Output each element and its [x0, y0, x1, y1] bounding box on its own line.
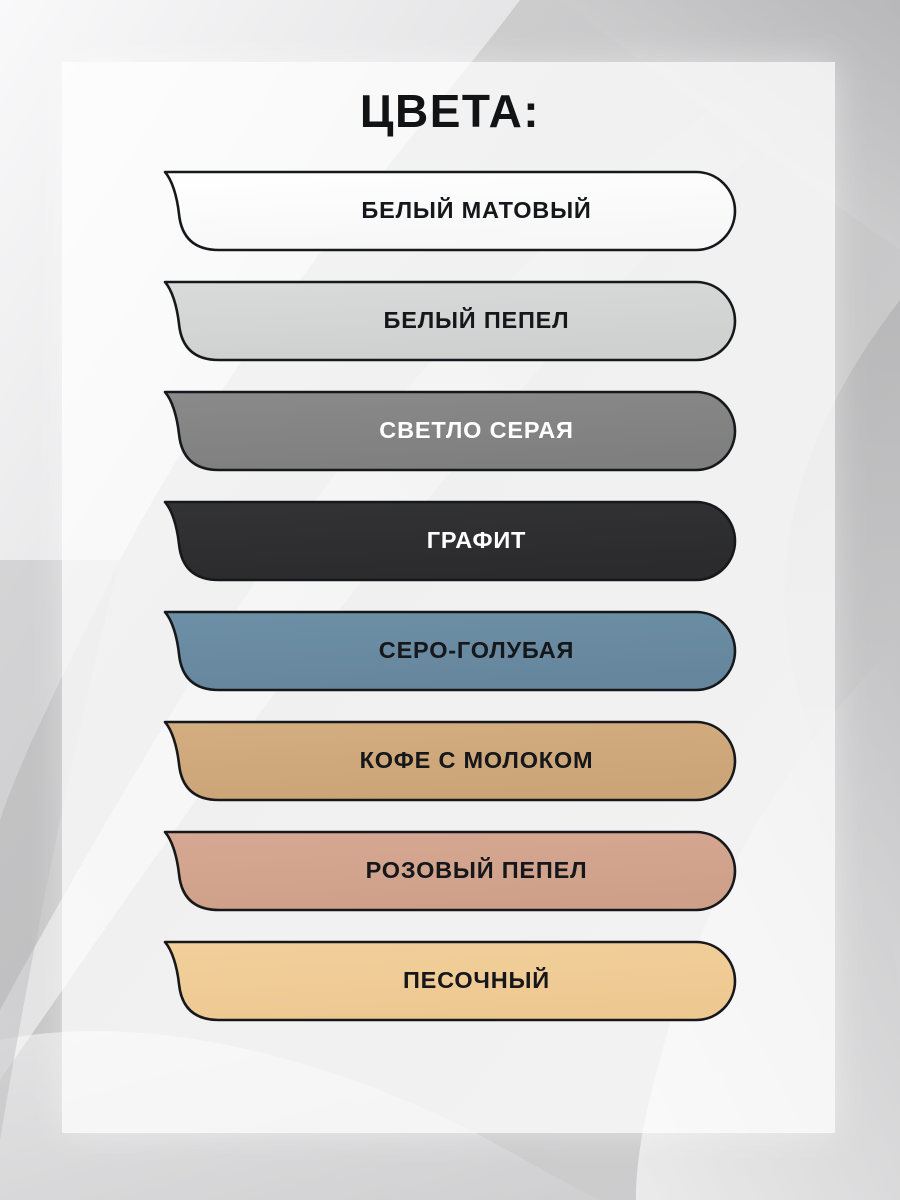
color-swatch-option[interactable]: БЕЛЫЙ МАТОВЫЙ — [163, 170, 738, 252]
color-swatch-label: БЕЛЫЙ МАТОВЫЙ — [215, 170, 738, 252]
color-swatch-option[interactable]: РОЗОВЫЙ ПЕПЕЛ — [163, 830, 738, 912]
page-title: ЦВЕТА: — [0, 88, 900, 134]
color-swatch-option[interactable]: ПЕСОЧНЫЙ — [163, 940, 738, 1022]
color-swatch-option[interactable]: КОФЕ С МОЛОКОМ — [163, 720, 738, 802]
color-swatch-list: БЕЛЫЙ МАТОВЫЙБЕЛЫЙ ПЕПЕЛСВЕТЛО СЕРАЯГРАФ… — [163, 170, 738, 1050]
color-swatch-option[interactable]: СЕРО-ГОЛУБАЯ — [163, 610, 738, 692]
color-swatch-label: БЕЛЫЙ ПЕПЕЛ — [215, 280, 738, 362]
color-swatch-option[interactable]: СВЕТЛО СЕРАЯ — [163, 390, 738, 472]
color-swatch-label: СВЕТЛО СЕРАЯ — [215, 390, 738, 472]
color-swatch-label: ПЕСОЧНЫЙ — [215, 940, 738, 1022]
color-swatch-option[interactable]: ГРАФИТ — [163, 500, 738, 582]
color-swatch-label: РОЗОВЫЙ ПЕПЕЛ — [215, 830, 738, 912]
color-swatch-label: СЕРО-ГОЛУБАЯ — [215, 610, 738, 692]
color-options-poster: ЦВЕТА: БЕЛЫЙ МАТОВЫЙБЕЛЫЙ ПЕПЕЛСВЕТЛО СЕ… — [0, 0, 900, 1200]
color-swatch-label: КОФЕ С МОЛОКОМ — [215, 720, 738, 802]
color-swatch-label: ГРАФИТ — [215, 500, 738, 582]
color-swatch-option[interactable]: БЕЛЫЙ ПЕПЕЛ — [163, 280, 738, 362]
